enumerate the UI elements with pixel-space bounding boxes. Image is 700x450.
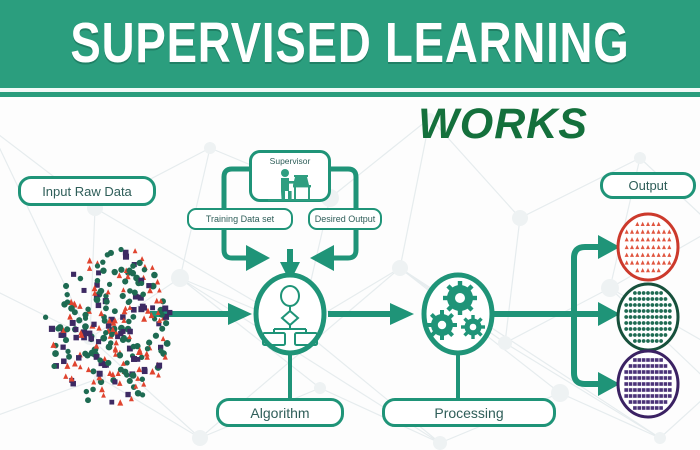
label-desired-output[interactable]: Desired Output bbox=[308, 208, 382, 230]
arrow-to-output-3 bbox=[598, 372, 620, 396]
label-input-raw-data-text: Input Raw Data bbox=[42, 184, 132, 199]
label-training-data-set[interactable]: Training Data set bbox=[187, 208, 293, 230]
arrow-input-to-algorithm bbox=[150, 303, 252, 325]
arrow-algorithm-to-processing bbox=[328, 303, 414, 325]
arrow-desired-to-center bbox=[310, 245, 334, 271]
output-splitter bbox=[492, 235, 620, 396]
infographic-canvas: SUPERVISED LEARNING WORKS .tl{stroke:#1f… bbox=[0, 0, 700, 450]
label-processing-text: Processing bbox=[434, 405, 503, 421]
supervisor-box[interactable]: Supervisor bbox=[249, 150, 331, 202]
label-desired-output-text: Desired Output bbox=[315, 214, 376, 224]
label-input-raw-data[interactable]: Input Raw Data bbox=[18, 176, 156, 206]
label-algorithm-text: Algorithm bbox=[250, 405, 309, 421]
label-processing[interactable]: Processing bbox=[382, 398, 556, 427]
person-at-desk-icon bbox=[252, 166, 334, 202]
arrow-to-output-1 bbox=[598, 235, 620, 259]
arrow-training-to-center bbox=[246, 245, 270, 271]
label-training-data-set-text: Training Data set bbox=[206, 214, 274, 224]
arrow-to-output-2 bbox=[598, 302, 620, 326]
label-output-text: Output bbox=[628, 178, 667, 193]
label-output[interactable]: Output bbox=[600, 172, 696, 199]
label-algorithm[interactable]: Algorithm bbox=[216, 398, 344, 427]
label-supervisor: Supervisor bbox=[252, 156, 328, 166]
